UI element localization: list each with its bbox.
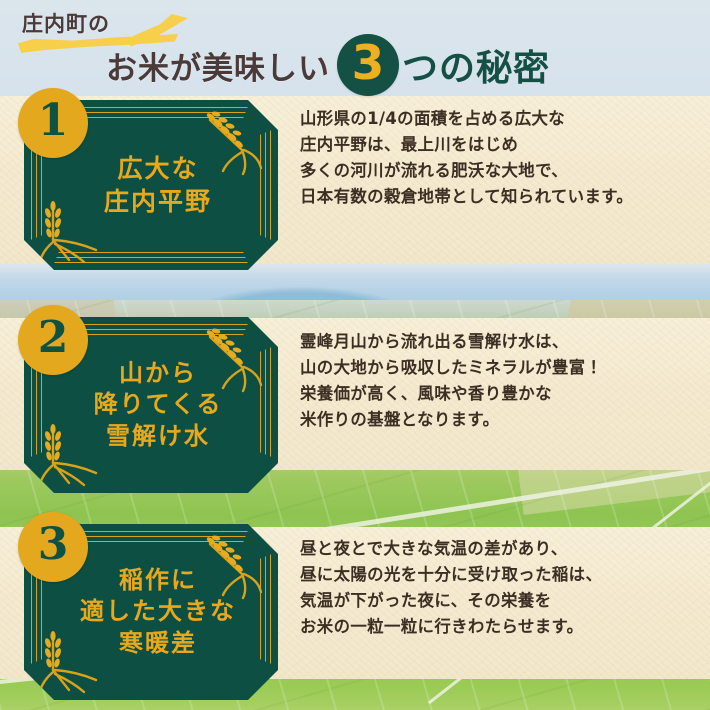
- rice-ear-icon: [202, 327, 264, 393]
- body-line: 山形県の1/4の面積を占める広大な: [300, 106, 700, 132]
- card-title-line: 寒暖差: [119, 628, 197, 659]
- infographic-root: 庄内町の お米が美味しい 3 つの秘密: [0, 0, 710, 710]
- secret-row-2: 山から 降りてくる 雪解け水 2 霊峰月山から流れ出る雪解け水は、 山の大地から…: [0, 305, 710, 487]
- header-kicker-group: 庄内町の: [22, 8, 110, 38]
- rice-ear-icon: [202, 110, 264, 176]
- card-title-line: 広大な: [117, 152, 198, 186]
- body-line: 気温が下がった夜に、その栄養を: [300, 588, 700, 614]
- page-title: お米が美味しい 3 つの秘密: [106, 34, 706, 96]
- body-line: 庄内平野は、最上川をはじめ: [300, 132, 700, 158]
- body-line: 山の大地から吸収したミネラルが豊富！: [300, 355, 700, 381]
- secret-body-2: 霊峰月山から流れ出る雪解け水は、 山の大地から吸収したミネラルが豊富！ 栄養価が…: [300, 329, 700, 433]
- card-title-line: 庄内平野: [104, 185, 212, 219]
- card-title-line: 適した大きな: [80, 596, 236, 627]
- body-line: 米作りの基盤となります。: [300, 407, 700, 433]
- card-title-line: 稲作に: [119, 565, 197, 596]
- body-line: 多くの河川が流れる肥沃な大地で、: [300, 158, 700, 184]
- secret-badge-number: 1: [38, 99, 69, 143]
- secret-badge-1: 1: [18, 88, 88, 158]
- secret-badge-3: 3: [18, 512, 88, 582]
- body-line: 栄養価が高く、風味や香り豊かな: [300, 381, 700, 407]
- secret-badge-number: 3: [38, 523, 69, 567]
- secret-badge-number: 2: [38, 316, 69, 360]
- rice-ear-icon: [36, 630, 110, 694]
- header-lead-text: お米が美味しい: [106, 43, 330, 88]
- header-tail-text: つの秘密: [402, 39, 550, 91]
- body-line: お米の一粒一粒に行きわたらせます。: [300, 614, 700, 640]
- body-line: 日本有数の穀倉地帯として知られています。: [300, 184, 700, 210]
- card-title-line: 雪解け水: [106, 421, 210, 452]
- rice-ear-icon: [36, 423, 110, 487]
- rice-ear-icon: [202, 534, 264, 600]
- body-line: 昼と夜とで大きな気温の差があり、: [300, 536, 700, 562]
- secret-badge-2: 2: [18, 305, 88, 375]
- rice-ear-icon: [36, 200, 110, 264]
- header-number-text: 3: [352, 40, 385, 87]
- header-kicker-text: 庄内町の: [22, 8, 110, 38]
- card-title-line: 山から: [119, 358, 197, 389]
- body-line: 昼に太陽の光を十分に受け取った稲は、: [300, 562, 700, 588]
- secret-row-1: 広大な 庄内平野 1 山形県の1/4の面積を占める広大な 庄内平野は、最上川をは…: [0, 88, 710, 278]
- body-line: 霊峰月山から流れ出る雪解け水は、: [300, 329, 700, 355]
- secret-body-1: 山形県の1/4の面積を占める広大な 庄内平野は、最上川をはじめ 多くの河川が流れ…: [300, 106, 700, 210]
- header-number-circle: 3: [337, 34, 399, 96]
- secret-row-3: 稲作に 適した大きな 寒暖差 3 昼と夜とで大きな気温の差があり、 昼に太陽の光…: [0, 512, 710, 697]
- secret-body-3: 昼と夜とで大きな気温の差があり、 昼に太陽の光を十分に受け取った稲は、 気温が下…: [300, 536, 700, 640]
- card-title-line: 降りてくる: [94, 389, 223, 420]
- header: 庄内町の お米が美味しい 3 つの秘密: [0, 0, 710, 96]
